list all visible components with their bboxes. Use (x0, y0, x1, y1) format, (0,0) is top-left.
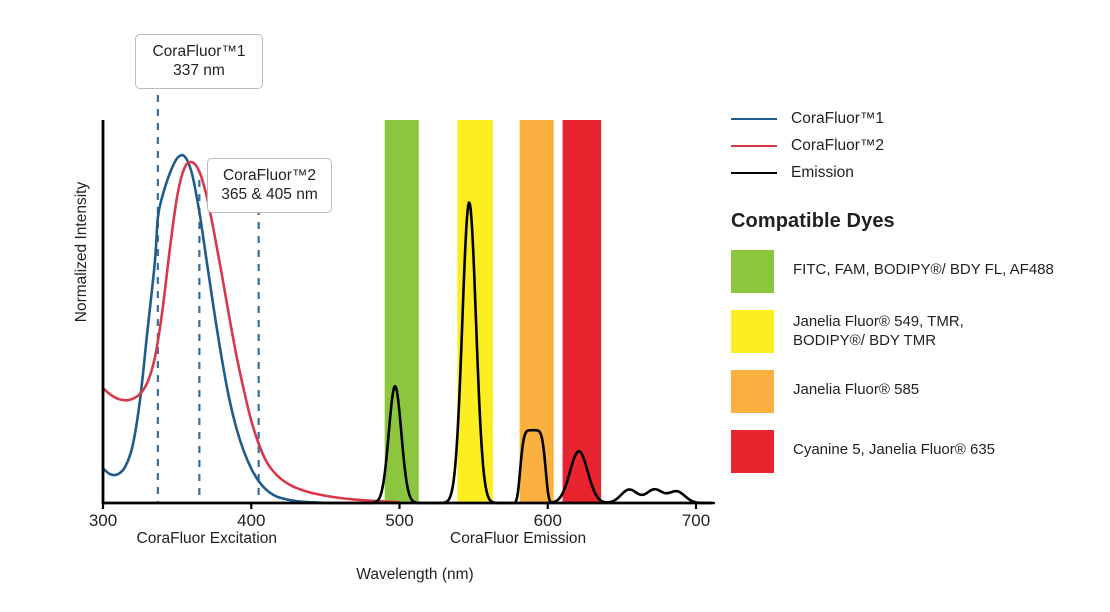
dye-item: FITC, FAM, BODIPY®/ BDY FL, AF488 (731, 250, 1101, 293)
dye-color-swatch (731, 370, 774, 413)
dye-item: Cyanine 5, Janelia Fluor® 635 (731, 430, 1101, 473)
x-axis-section-emission: CoraFluor Emission (418, 530, 618, 548)
x-axis-section-excitation: CoraFluor Excitation (107, 530, 307, 548)
dye-label-line: Janelia Fluor® 549, TMR, (793, 312, 964, 331)
callout-corafluor-1: CoraFluor™1 337 nm (135, 34, 263, 89)
compatible-dyes-title: Compatible Dyes (731, 210, 1101, 233)
compatible-dyes-list: FITC, FAM, BODIPY®/ BDY FL, AF488Janelia… (731, 250, 1101, 473)
series-legend: CoraFluor™1CoraFluor™2Emission (731, 105, 1101, 186)
legend-label: Emission (791, 164, 854, 182)
x-axis-tick-label: 500 (370, 511, 430, 531)
dye-label-line: FITC, FAM, BODIPY®/ BDY FL, AF488 (793, 260, 1054, 279)
dye-label: FITC, FAM, BODIPY®/ BDY FL, AF488 (793, 250, 1054, 279)
legend-line-swatch (731, 118, 777, 120)
chart-root: CoraFluor™1 337 nm CoraFluor™2 365 & 405… (0, 0, 1110, 612)
dye-label-line: Cyanine 5, Janelia Fluor® 635 (793, 440, 995, 459)
right-panel: CoraFluor™1CoraFluor™2Emission Compatibl… (731, 105, 1101, 473)
legend-item: CoraFluor™1 (731, 105, 1101, 132)
legend-item: CoraFluor™2 (731, 132, 1101, 159)
dye-item: Janelia Fluor® 585 (731, 370, 1101, 413)
dye-label: Janelia Fluor® 549, TMR,BODIPY®/ BDY TMR (793, 310, 964, 350)
x-axis-tick-label: 400 (221, 511, 281, 531)
legend-line-swatch (731, 172, 777, 174)
dye-label-line: Janelia Fluor® 585 (793, 380, 919, 399)
x-axis-tick-label: 300 (73, 511, 133, 531)
dye-label: Janelia Fluor® 585 (793, 370, 919, 399)
callout-1-line2: 337 nm (148, 61, 250, 80)
x-axis-title: Wavelength (nm) (0, 566, 830, 584)
legend-line-swatch (731, 145, 777, 147)
legend-item: Emission (731, 159, 1101, 186)
dye-label: Cyanine 5, Janelia Fluor® 635 (793, 430, 995, 459)
legend-label: CoraFluor™2 (791, 137, 884, 155)
callout-2-line1: CoraFluor™2 (220, 166, 319, 185)
dye-item: Janelia Fluor® 549, TMR,BODIPY®/ BDY TMR (731, 310, 1101, 353)
y-axis-label: Normalized Intensity (73, 167, 91, 337)
callout-2-line2: 365 & 405 nm (220, 185, 319, 204)
x-axis-tick-label: 600 (518, 511, 578, 531)
callout-corafluor-2: CoraFluor™2 365 & 405 nm (207, 158, 332, 213)
dye-color-swatch (731, 310, 774, 353)
dye-label-line: BODIPY®/ BDY TMR (793, 331, 964, 350)
emission-band (563, 120, 602, 503)
dye-color-swatch (731, 430, 774, 473)
emission-band (520, 120, 554, 503)
x-axis-tick-label: 700 (666, 511, 726, 531)
dye-color-swatch (731, 250, 774, 293)
callout-1-line1: CoraFluor™1 (148, 42, 250, 61)
legend-label: CoraFluor™1 (791, 110, 884, 128)
